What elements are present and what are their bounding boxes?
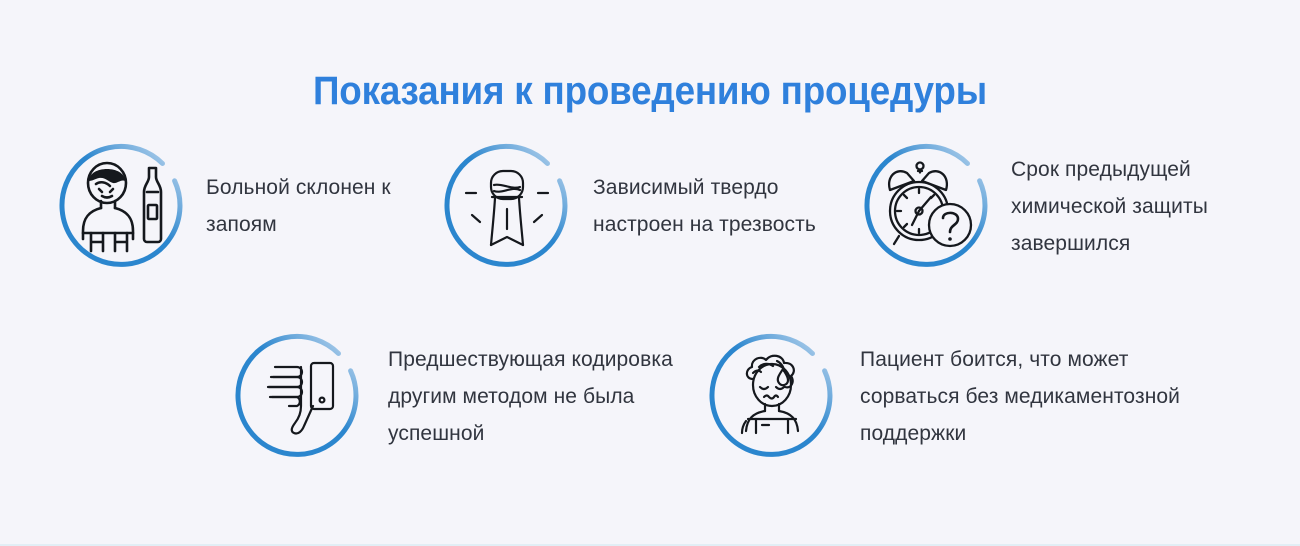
card-text-3: Срок предыдущей химической защиты заверш… <box>1011 151 1261 262</box>
indication-card-1: Больной склонен к запоям <box>52 136 446 276</box>
alarm-clock-question-icon <box>874 153 980 259</box>
thumbs-down-icon <box>245 343 351 449</box>
indications-infographic: Показания к проведению процедуры <box>0 0 1300 546</box>
icon-ring-5 <box>702 326 842 466</box>
card-text-4: Предшествующая кодировка другим методом … <box>388 341 718 452</box>
icon-ring-1 <box>52 136 192 276</box>
icon-ring-3 <box>857 136 997 276</box>
icon-ring-2 <box>437 136 577 276</box>
worried-patient-icon <box>719 343 825 449</box>
card-text-1: Больной склонен к запоям <box>206 169 446 243</box>
card-text-5: Пациент боится, что может сорваться без … <box>860 341 1220 452</box>
determined-person-icon <box>454 153 560 259</box>
icon-ring-4 <box>228 326 368 466</box>
indication-card-3: Срок предыдущей химической защиты заверш… <box>857 136 1261 276</box>
card-text-2: Зависимый твердо настроен на трезвость <box>593 169 818 243</box>
indication-card-4: Предшествующая кодировка другим методом … <box>228 326 718 466</box>
page-title: Показания к проведению процедуры <box>52 69 1248 113</box>
patient-with-bottle-icon <box>69 153 175 259</box>
indication-card-5: Пациент боится, что может сорваться без … <box>702 326 1220 466</box>
indication-card-2: Зависимый твердо настроен на трезвость <box>437 136 818 276</box>
